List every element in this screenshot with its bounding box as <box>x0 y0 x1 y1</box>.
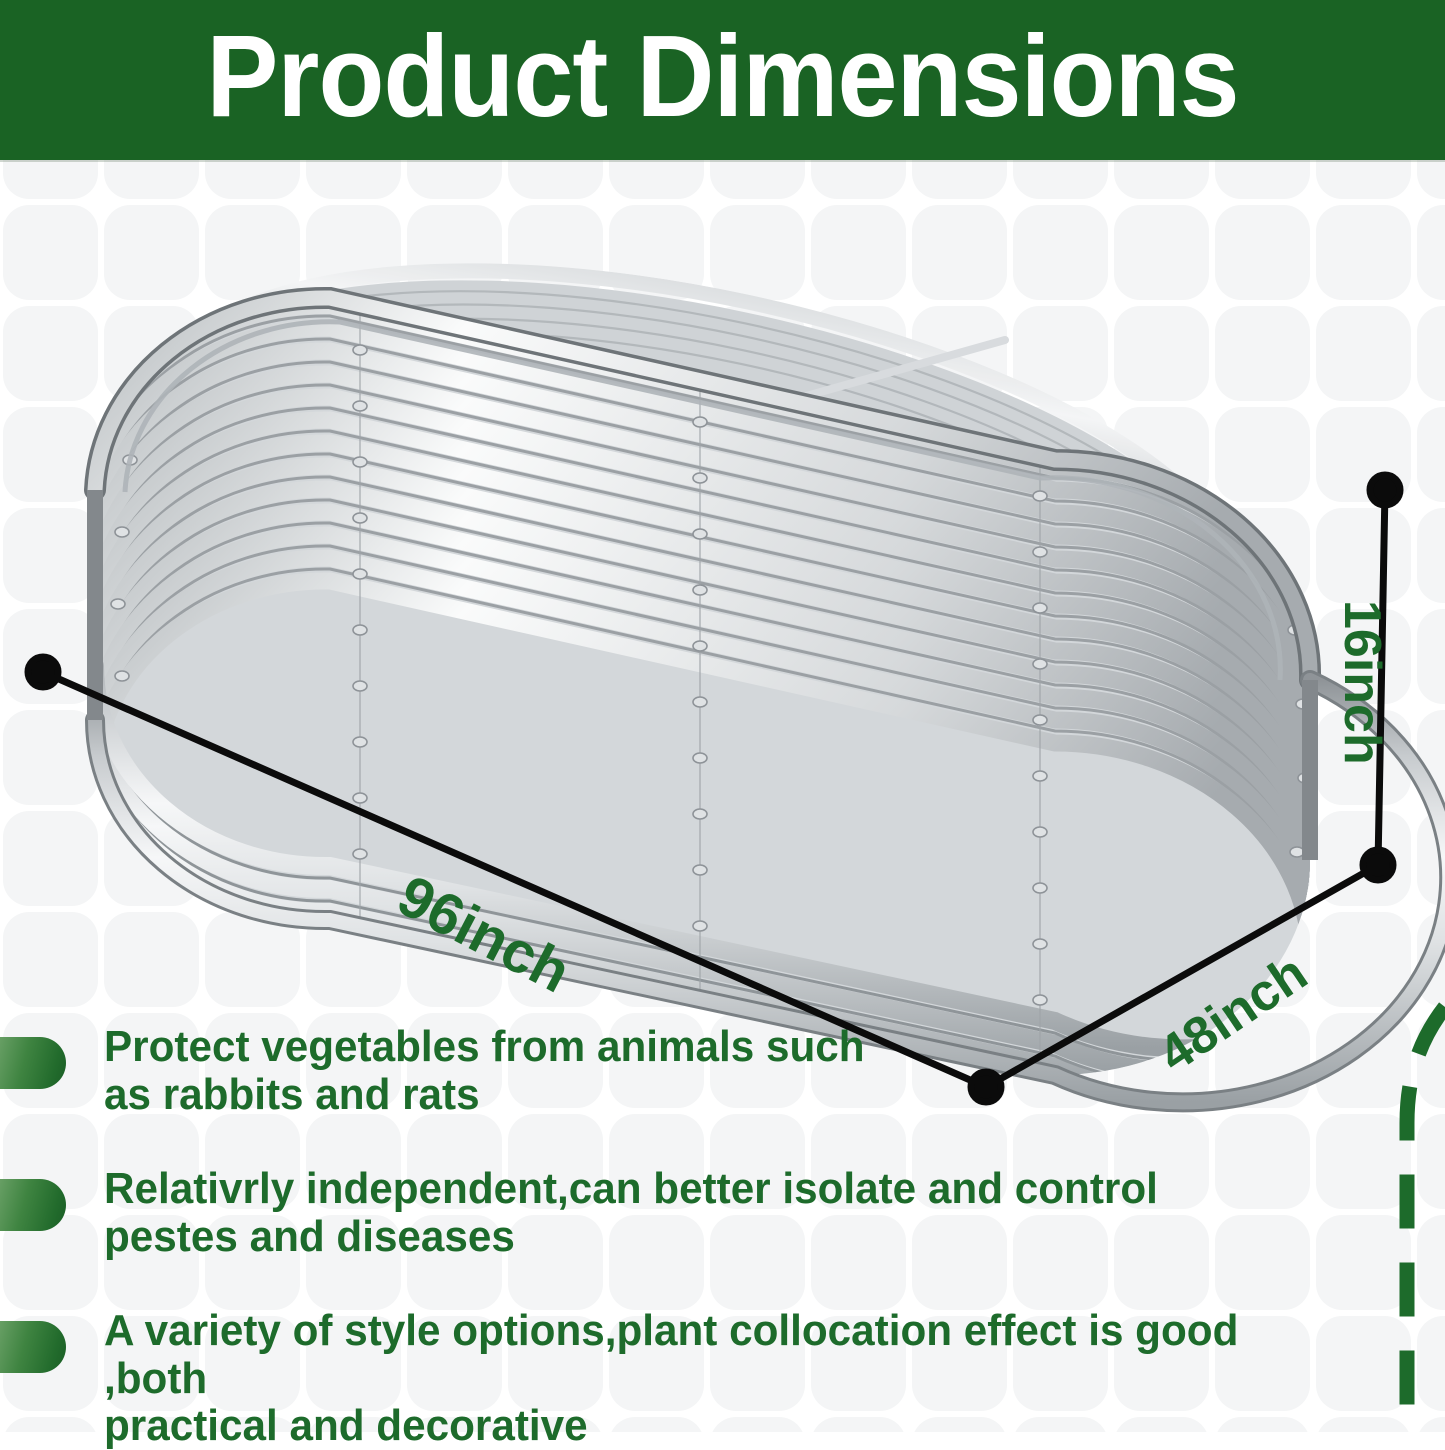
feature-list: Protect vegetables from animals such as … <box>0 1015 1445 1441</box>
page-title: Product Dimensions <box>51 0 1395 160</box>
feature-text: A variety of style options,plant colloca… <box>104 1307 1352 1450</box>
feature-line: practical and decorative <box>104 1402 1352 1450</box>
header-banner: Product Dimensions <box>0 0 1445 160</box>
feature-line: as rabbits and rats <box>104 1071 1352 1119</box>
feature-line: pestes and diseases <box>104 1213 1352 1261</box>
bullet-pill-icon <box>0 1037 66 1089</box>
bullet-pill-icon <box>0 1179 66 1231</box>
list-item: Protect vegetables from animals such as … <box>0 1015 1445 1157</box>
feature-line: Relativrly independent,can better isolat… <box>104 1165 1352 1213</box>
dimension-label-height: 16inch <box>1332 600 1392 765</box>
bullet-pill-icon <box>0 1321 66 1373</box>
list-item: Relativrly independent,can better isolat… <box>0 1157 1445 1299</box>
feature-text: Relativrly independent,can better isolat… <box>104 1165 1352 1260</box>
feature-text: Protect vegetables from animals such as … <box>104 1023 1352 1118</box>
feature-line: A variety of style options,plant colloca… <box>104 1307 1352 1402</box>
feature-line: Protect vegetables from animals such <box>104 1023 1352 1071</box>
product-illustration <box>0 160 1445 1120</box>
list-item: A variety of style options,plant colloca… <box>0 1299 1445 1441</box>
